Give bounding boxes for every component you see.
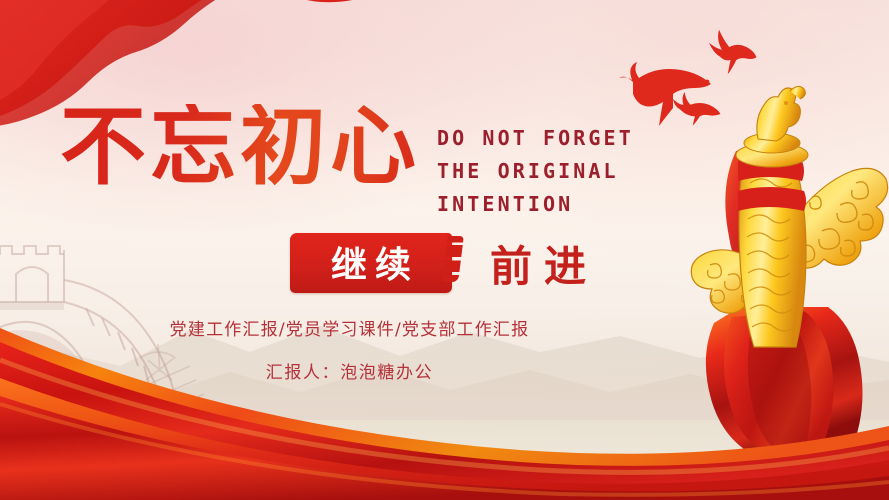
slogan-forward-text: 前进 <box>478 233 598 294</box>
presenter-line: 汇报人：泡泡糖办公 <box>0 358 889 383</box>
english-title-line-2: THE ORIGINAL <box>437 155 634 188</box>
presentation-slide: 不忘初心 DO NOT FORGET THE ORIGINAL INTENTIO… <box>0 0 889 500</box>
page-title: 不忘初心 <box>60 104 420 190</box>
slogan-row: 继续 前进 <box>290 232 598 294</box>
red-doves-decoration <box>615 22 775 132</box>
english-title-line-1: DO NOT FORGET <box>437 122 634 155</box>
brush-banner-badge: 继续 <box>290 233 452 293</box>
english-title-line-3: INTENTION <box>437 188 634 221</box>
golden-huabiao-column <box>680 55 889 455</box>
subtitle-categories: 党建工作汇报/党员学习课件/党支部工作汇报 <box>0 315 889 340</box>
great-wall-watermark <box>0 240 250 450</box>
english-title: DO NOT FORGET THE ORIGINAL INTENTION <box>437 122 634 221</box>
